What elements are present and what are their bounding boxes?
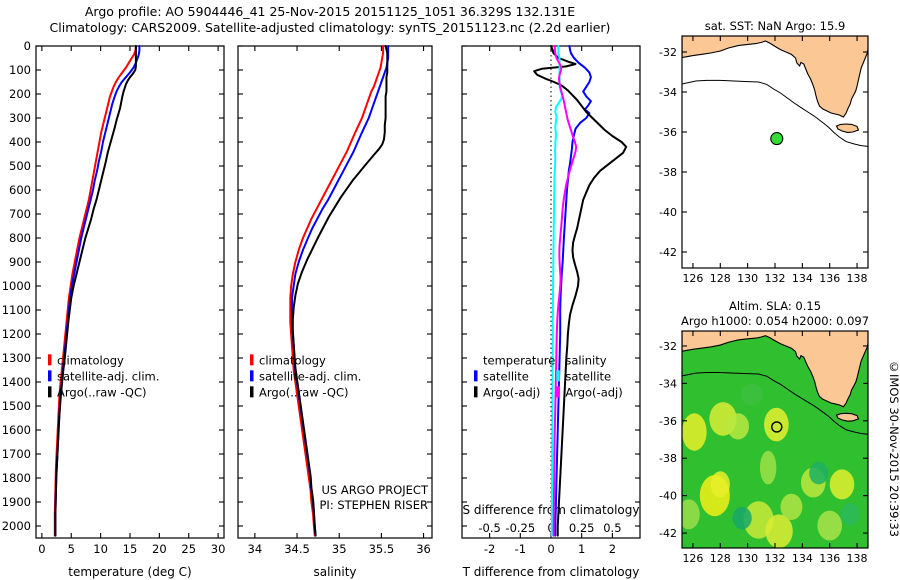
map-y-tick-label: -36 — [659, 126, 677, 139]
sla-anomaly-blob — [780, 494, 802, 520]
legend-swatch — [48, 386, 52, 397]
y-tick-label: 2000 — [2, 519, 31, 533]
legend-label: climatology — [259, 353, 326, 367]
x-tick-label: 25 — [181, 542, 196, 556]
sla-anomaly-blob — [817, 511, 842, 541]
legend-label: satellite — [565, 369, 611, 383]
x-tick-label: 36 — [416, 542, 431, 556]
legend-label: satellite — [483, 369, 529, 383]
y-tick-label: 1400 — [2, 375, 31, 389]
figure-title: Argo profile: AO 5904446_41 25-Nov-2015 … — [0, 4, 660, 36]
x-axis-label: salinity — [313, 565, 356, 579]
x-tick-label: 35 — [332, 542, 347, 556]
map-x-tick-label: 138 — [847, 552, 868, 565]
map-x-tick-label: 128 — [710, 272, 731, 285]
map-y-tick-label: -32 — [659, 46, 677, 59]
y-tick-label: 1800 — [2, 471, 31, 485]
map-x-tick-label: 134 — [792, 272, 813, 285]
legend-label: Argo(..raw -QC) — [57, 385, 147, 399]
map-x-tick-label: 138 — [847, 272, 868, 285]
x-tick-label: -2 — [484, 542, 495, 556]
legend-header: temperature — [483, 353, 555, 367]
y-tick-label: 1300 — [2, 351, 31, 365]
x-tick-label: 15 — [123, 542, 138, 556]
y-tick-label: 300 — [9, 111, 31, 125]
legend-label: satellite-adj. clim. — [57, 369, 159, 383]
x-tick-label-secondary: 0.25 — [569, 521, 595, 535]
map-x-tick-label: 134 — [792, 552, 813, 565]
sla-anomaly-blob — [711, 471, 730, 497]
map-x-tick-label: 132 — [765, 552, 786, 565]
y-tick-label: 1100 — [2, 303, 31, 317]
difference-profile-svg: -2-1012-0.5-0.2500.250.5S difference fro… — [450, 38, 650, 580]
map-y-tick-label: -40 — [659, 490, 677, 503]
y-tick-label: 900 — [9, 255, 31, 269]
x-tick-label: 30 — [211, 542, 226, 556]
plot-frame — [462, 46, 640, 538]
y-tick-label: 400 — [9, 135, 31, 149]
y-tick-label: 1900 — [2, 495, 31, 509]
project-note: US ARGO PROJECT — [321, 483, 429, 497]
map-title: sat. SST: NaN Argo: 15.9 — [705, 19, 846, 33]
sla-anomaly-blob — [809, 462, 828, 484]
y-tick-label: 1600 — [2, 423, 31, 437]
sla-anomaly-blob — [764, 408, 789, 442]
y-tick-label: 1000 — [2, 279, 31, 293]
x-tick-label: 0 — [38, 542, 45, 556]
title-line-1: Argo profile: AO 5904446_41 25-Nov-2015 … — [0, 4, 660, 20]
legend-swatch — [556, 386, 560, 397]
copyright-text: ©IMOS 30-Nov-2015 20:39:33 — [887, 360, 900, 537]
sla-anomaly-blob — [727, 413, 749, 439]
legend-label: Argo(..raw -QC) — [259, 385, 349, 399]
y-tick-label: 100 — [9, 63, 31, 77]
y-tick-label: 1700 — [2, 447, 31, 461]
y-tick-label: 1500 — [2, 399, 31, 413]
y-tick-label: 500 — [9, 159, 31, 173]
sla-anomaly-blob — [741, 383, 763, 405]
y-tick-label: 800 — [9, 231, 31, 245]
legend-swatch — [48, 354, 52, 365]
map-x-tick-label: 126 — [682, 552, 703, 565]
x-tick-label: 5 — [68, 542, 75, 556]
x-tick-label: 1 — [578, 542, 585, 556]
y-tick-label: 600 — [9, 183, 31, 197]
map-x-tick-label: 130 — [737, 552, 758, 565]
project-note: PI: STEPHEN RISER — [320, 498, 429, 512]
map-y-tick-label: -42 — [659, 527, 677, 540]
plot-frame — [36, 46, 224, 538]
x-tick-label-secondary: -0.5 — [478, 521, 500, 535]
x-axis-label: T difference from climatology — [462, 565, 640, 579]
sla-anomaly-blob — [678, 499, 700, 529]
x-tick-label: 2 — [609, 542, 616, 556]
map-y-tick-label: -36 — [659, 415, 677, 428]
map-y-tick-label: -34 — [659, 86, 677, 99]
land-mass — [682, 36, 868, 117]
legend-swatch — [250, 386, 254, 397]
sla-anomaly-blob — [733, 507, 752, 529]
map-y-tick-label: -40 — [659, 206, 677, 219]
legend-label: Argo(-adj) — [565, 385, 622, 399]
y-tick-label: 200 — [9, 87, 31, 101]
temperature-profile-svg: 0100200300400500600700800900100011001200… — [0, 38, 228, 580]
x-tick-label: 34 — [248, 542, 263, 556]
profile-location-marker[interactable] — [771, 133, 783, 145]
x-tick-label: 34.5 — [284, 542, 310, 556]
sla-anomaly-blob — [830, 469, 855, 499]
plot-frame — [238, 46, 432, 538]
map-title-line-2: Argo h1000: 0.054 h2000: 0.097 — [681, 314, 869, 328]
legend-header: salinity — [565, 353, 606, 367]
sla-map-panel: Altim. SLA: 0.15Argo h1000: 0.054 h2000:… — [650, 288, 900, 570]
y-tick-label: 700 — [9, 207, 31, 221]
map-x-tick-label: 126 — [682, 272, 703, 285]
legend-swatch — [556, 370, 560, 381]
legend-label: Argo(-adj) — [483, 385, 540, 399]
map-x-tick-label: 136 — [819, 552, 840, 565]
legend-swatch — [474, 386, 478, 397]
y-tick-label: 0 — [24, 39, 31, 53]
map-x-tick-label: 132 — [765, 272, 786, 285]
sst-map-panel: sat. SST: NaN Argo: 15.91261281301321341… — [650, 8, 900, 290]
y-tick-label: 1200 — [2, 327, 31, 341]
x-tick-label: 35.5 — [369, 542, 395, 556]
legend-swatch — [474, 370, 478, 381]
map-title-line-1: Altim. SLA: 0.15 — [729, 299, 821, 313]
x-tick-label-secondary: 0.5 — [603, 521, 621, 535]
map-y-tick-label: -34 — [659, 377, 677, 390]
legend-swatch — [48, 370, 52, 381]
legend-swatch — [250, 370, 254, 381]
x-tick-label: 0 — [547, 542, 554, 556]
map-y-tick-label: -38 — [659, 452, 677, 465]
legend-label: climatology — [57, 353, 124, 367]
kangaroo-island — [837, 124, 859, 132]
map-y-tick-label: -32 — [659, 340, 677, 353]
x-tick-label: 20 — [152, 542, 167, 556]
sla-anomaly-blob — [841, 503, 860, 525]
title-line-2: Climatology: CARS2009. Satellite-adjuste… — [0, 20, 660, 36]
map-x-tick-label: 128 — [710, 552, 731, 565]
sla-anomaly-blob — [760, 451, 776, 485]
x-tick-label: 10 — [93, 542, 108, 556]
x-tick-label-secondary: -0.25 — [505, 521, 535, 535]
legend-label: satellite-adj. clim. — [259, 369, 361, 383]
sla-anomaly-blob — [682, 413, 707, 450]
legend-swatch — [250, 354, 254, 365]
map-x-tick-label: 130 — [737, 272, 758, 285]
map-y-tick-label: -38 — [659, 166, 677, 179]
x-tick-label: -1 — [515, 542, 526, 556]
sla-map-svg: Altim. SLA: 0.15Argo h1000: 0.054 h2000:… — [650, 288, 900, 570]
salinity-profile-panel: 3434.53535.536salinityclimatologysatelli… — [228, 38, 450, 580]
map-x-tick-label: 136 — [819, 272, 840, 285]
map-y-tick-label: -42 — [659, 246, 677, 259]
difference-profile-panel: -2-1012-0.5-0.2500.250.5S difference fro… — [450, 38, 650, 580]
x-axis-label: temperature (deg C) — [68, 565, 191, 579]
salinity-profile-svg: 3434.53535.536salinityclimatologysatelli… — [228, 38, 450, 580]
temperature-profile-panel: 0100200300400500600700800900100011001200… — [0, 38, 228, 580]
sst-map-svg: sat. SST: NaN Argo: 15.91261281301321341… — [650, 8, 900, 290]
